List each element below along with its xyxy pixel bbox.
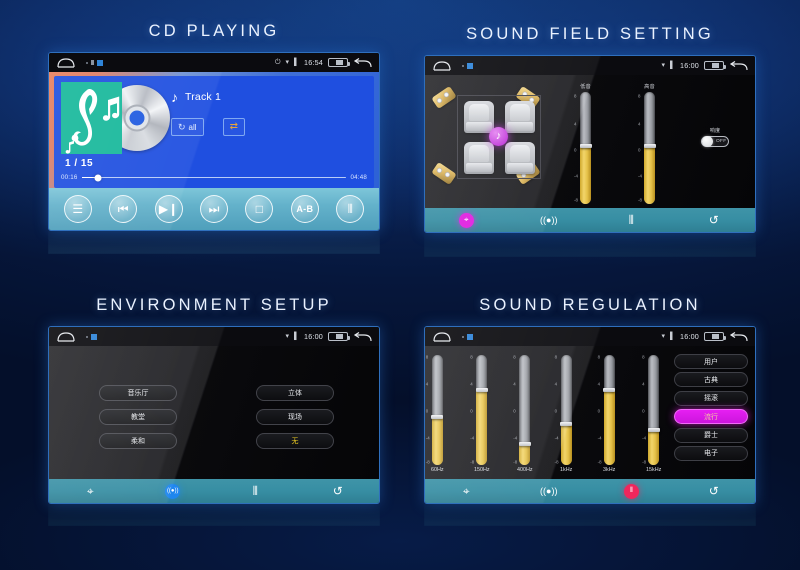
eq-band-400hz-track[interactable]: 8 4 0 -4 -8	[519, 355, 530, 465]
play-pause-icon: ▶❙	[159, 203, 178, 215]
progress-slider[interactable]	[82, 177, 345, 179]
toggle-knob	[702, 136, 713, 147]
cd-body: ♪ Track 1 ↻ all ⇄	[49, 72, 379, 188]
balance-icon: ⌖	[87, 485, 94, 497]
wifi-icon: ▾	[286, 333, 290, 340]
toggle-state: OFF	[716, 139, 727, 144]
eq-preset-classical[interactable]: 古典	[674, 372, 748, 387]
home-icon[interactable]	[56, 331, 76, 342]
track-index: 1 / 15	[65, 158, 367, 169]
eq-band-1khz-track[interactable]: 8 4 0 -4 -8	[561, 355, 572, 465]
signal-icon: ▌	[294, 59, 299, 66]
bottom-nav-environment: ⌖ ((●)) ⦀ ↺	[49, 479, 379, 503]
time-elapsed: 00:16	[61, 174, 77, 181]
eq-band-60hz-fill	[432, 417, 443, 465]
home-icon[interactable]	[432, 331, 452, 342]
speaker-rear-left-icon	[431, 162, 457, 185]
nav-soundfield[interactable]: ((●))	[508, 208, 591, 232]
statusbar-clock: 16:00	[680, 332, 699, 341]
soundfield-icon: ((●))	[165, 484, 180, 499]
eq-band-15khz-fill	[648, 430, 659, 465]
battery-icon	[704, 332, 724, 341]
previous-button[interactable]: ⏮	[109, 195, 137, 223]
treble-slider-fill	[644, 146, 655, 204]
equalizer-icon: ⦀	[624, 484, 639, 499]
environment-options: 音乐厅 教堂 柔和 立体 现场 无	[49, 346, 379, 479]
eq-preset-pop[interactable]: 流行	[674, 409, 748, 424]
playlist-button[interactable]: ☰	[64, 195, 92, 223]
balance-icon: ⌖	[463, 485, 470, 497]
loudness-toggle-group: 响度 OFF	[701, 127, 729, 147]
statusbar-sound-regulation: ▾ ▌ 16:00	[425, 327, 755, 346]
device-sound-field: ▾ ▌ 16:00	[424, 55, 756, 233]
shuffle-icon: ⇄	[230, 122, 238, 132]
repeat-icon: ↻	[178, 123, 186, 132]
panel-sound-regulation: SOUND REGULATION ▾ ▌ 16:00	[424, 296, 756, 504]
bass-slider-track[interactable]: 8 4 0 -4 -8	[580, 92, 591, 204]
panel-title-cd: CD PLAYING	[48, 22, 380, 41]
track-info: ♪ Track 1 ↻ all ⇄	[171, 82, 245, 154]
nav-equalizer[interactable]: ⦀	[214, 479, 297, 503]
eq-band-150hz-knob[interactable]	[476, 388, 488, 392]
statusbar-cd: ⏻ ▾ ▌ 16:54	[49, 53, 379, 72]
screen-cd: ♪ Track 1 ↻ all ⇄	[49, 72, 379, 230]
eq-band-150hz-fill	[476, 390, 487, 465]
eq-band-15khz-track[interactable]: 8 4 0 -4 -8	[648, 355, 659, 465]
eq-band-1khz-label: 1kHz	[560, 467, 572, 473]
eq-band-400hz-fill	[519, 444, 530, 465]
home-icon[interactable]	[56, 57, 76, 68]
seat-rear-left	[464, 142, 494, 174]
statusbar-environment: ▾ ▌ 16:00	[49, 327, 379, 346]
bass-slider-knob[interactable]	[580, 144, 592, 148]
eq-band-400hz-knob[interactable]	[519, 442, 531, 446]
stop-button[interactable]: □	[245, 195, 273, 223]
statusbar-right-environment: ▾ ▌ 16:00	[286, 331, 372, 343]
next-icon: ⏭	[209, 203, 220, 215]
env-option-concert-hall[interactable]: 音乐厅	[99, 385, 177, 401]
eq-band-150hz-track[interactable]: 8 4 0 -4 -8	[476, 355, 487, 465]
eq-band-150hz-label: 150Hz	[474, 467, 490, 473]
eq-preset-electronic[interactable]: 电子	[674, 446, 748, 461]
equalizer-icon: ⦀	[253, 485, 258, 497]
eq-band-60hz-knob[interactable]	[431, 415, 443, 419]
statusbar-right-sound-regulation: ▾ ▌ 16:00	[662, 331, 748, 343]
wifi-icon: ▾	[662, 62, 666, 69]
eq-band-3khz-fill	[604, 390, 615, 465]
signal-icon: ▌	[294, 333, 299, 340]
eq-band-60hz-track[interactable]: 8 4 0 -4 -8	[432, 355, 443, 465]
eq-preset-user[interactable]: 用户	[674, 354, 748, 369]
battery-icon	[328, 332, 348, 341]
statusbar-indicators	[86, 60, 103, 66]
soundfield-icon: ((●))	[540, 216, 557, 225]
treble-label: 高音	[644, 83, 655, 90]
statusbar-clock: 16:00	[304, 332, 323, 341]
bass-slider[interactable]: 低音 8 4 0 -4 -8	[580, 83, 591, 204]
time-total: 04:48	[351, 174, 367, 181]
statusbar-indicators	[462, 63, 473, 69]
nav-soundfield[interactable]: ((●))	[132, 479, 215, 503]
nav-equalizer[interactable]: ⦀	[590, 479, 673, 503]
treble-slider[interactable]: 高音 8 4 0 -4 -8	[644, 83, 655, 204]
panel-cd-playing: CD PLAYING ⏻ ▾ ▌ 16:54	[48, 22, 380, 231]
usb-icon: ⏻	[275, 59, 281, 66]
ab-label: A-B	[296, 205, 313, 214]
home-icon[interactable]	[432, 60, 452, 71]
eq-band-15khz-knob[interactable]	[648, 428, 660, 432]
panel-title-environment: ENVIRONMENT SETUP	[48, 296, 380, 315]
nav-reset[interactable]: ↺	[297, 479, 380, 503]
eq-band-15khz-label: 15kHz	[646, 467, 661, 473]
back-icon[interactable]	[729, 60, 748, 72]
next-button[interactable]: ⏭	[200, 195, 228, 223]
cd-transport-controls: ☰ ⏮ ▶❙ ⏭ □ A-B ⦀	[49, 188, 379, 230]
speaker-front-left-icon	[431, 86, 457, 109]
eq-preset-list: 用户 古典 摇滚 流行 爵士 电子	[674, 354, 748, 461]
soundfield-icon: ((●))	[540, 487, 557, 496]
playlist-icon: ☰	[72, 203, 83, 215]
loudness-toggle[interactable]: OFF	[701, 136, 729, 147]
bass-label: 低音	[580, 83, 591, 90]
panel-title-sound-regulation: SOUND REGULATION	[424, 296, 756, 315]
device-environment: ▾ ▌ 16:00 音乐厅 教堂 柔和 立体 现场 无	[48, 326, 380, 504]
eq-preset-jazz[interactable]: 爵士	[674, 428, 748, 443]
statusbar-right-cd: ⏻ ▾ ▌ 16:54	[275, 57, 372, 69]
seat-front-left	[464, 101, 494, 133]
wifi-icon: ▾	[662, 333, 666, 340]
play-pause-button[interactable]: ▶❙	[155, 195, 183, 223]
bottom-nav-sound-field: ⌖ ((●)) ⦀ ↺	[425, 208, 755, 232]
seat-front-right	[505, 101, 535, 133]
nav-balance[interactable]: ⌖	[49, 479, 132, 503]
eq-band-3khz[interactable]: 8 4 0 -4 -8 3kHz	[603, 355, 615, 473]
back-icon[interactable]	[353, 57, 372, 69]
shuffle-button[interactable]: ⇄	[223, 118, 245, 136]
env-option-live[interactable]: 现场	[256, 409, 334, 425]
env-option-church[interactable]: 教堂	[99, 409, 177, 425]
battery-icon	[328, 58, 348, 67]
eq-band-1khz-fill	[561, 424, 572, 465]
track-title-row: ♪ Track 1	[171, 90, 245, 104]
track-title: Track 1	[185, 91, 221, 103]
statusbar-sound-field: ▾ ▌ 16:00	[425, 56, 755, 75]
env-option-stereo[interactable]: 立体	[256, 385, 334, 401]
eq-band-3khz-track[interactable]: 8 4 0 -4 -8	[604, 355, 615, 465]
stop-icon: □	[256, 203, 263, 215]
equalizer-button[interactable]: ⦀	[336, 195, 364, 223]
nav-reset[interactable]: ↺	[673, 208, 756, 232]
eq-band-150hz[interactable]: 8 4 0 -4 -8 150Hz	[474, 355, 490, 473]
repeat-all-button[interactable]: ↻ all	[171, 118, 204, 136]
equalizer-icon: ⦀	[348, 203, 353, 215]
repeat-label: all	[189, 123, 197, 132]
bass-slider-fill	[580, 146, 591, 204]
treble-slider-track[interactable]: 8 4 0 -4 -8	[644, 92, 655, 204]
screen-sound-regulation: 8 4 0 -4 -8 60Hz 8	[425, 346, 755, 479]
back-icon[interactable]	[729, 331, 748, 343]
ab-repeat-button[interactable]: A-B	[291, 195, 319, 223]
eq-band-60hz-label: 60Hz	[431, 467, 444, 473]
bottom-nav-sound-regulation: ⌖ ((●)) ⦀ ↺	[425, 479, 755, 503]
equalizer-icon: ⦀	[629, 214, 634, 226]
album-art-area	[61, 82, 159, 154]
signal-icon: ▌	[670, 62, 675, 69]
eq-band-1khz[interactable]: 8 4 0 -4 -8 1kHz	[560, 355, 572, 473]
panel-environment: ENVIRONMENT SETUP ▾ ▌ 16:00	[48, 296, 380, 504]
nav-balance[interactable]: ⌖	[425, 208, 508, 232]
statusbar-right-sound-field: ▾ ▌ 16:00	[662, 60, 748, 72]
nav-soundfield[interactable]: ((●))	[508, 479, 591, 503]
env-option-none[interactable]: 无	[256, 433, 334, 449]
eq-band-3khz-label: 3kHz	[603, 467, 615, 473]
statusbar-indicators	[462, 334, 473, 340]
statusbar-clock: 16:00	[680, 61, 699, 70]
statusbar-indicators	[86, 334, 97, 340]
reset-icon: ↺	[333, 485, 343, 497]
seat-rear-right	[505, 142, 535, 174]
back-icon[interactable]	[353, 331, 372, 343]
loudness-label: 响度	[710, 127, 720, 134]
nav-balance[interactable]: ⌖	[425, 479, 508, 503]
playback-mode-row: ↻ all ⇄	[171, 118, 245, 136]
reset-icon: ↺	[709, 485, 719, 497]
balance-icon: ⌖	[459, 213, 474, 228]
screen-sound-field: ♪ 低音 8 4 0 -4 -8	[425, 75, 755, 208]
battery-icon	[704, 61, 724, 70]
previous-icon: ⏮	[118, 203, 129, 215]
progress-row: 00:16 04:48	[61, 174, 367, 184]
eq-band-1khz-knob[interactable]	[560, 422, 572, 426]
nav-equalizer[interactable]: ⦀	[590, 208, 673, 232]
signal-icon: ▌	[670, 333, 675, 340]
eq-band-3khz-knob[interactable]	[603, 388, 615, 392]
device-cd: ⏻ ▾ ▌ 16:54	[48, 52, 380, 231]
panel-grid: CD PLAYING ⏻ ▾ ▌ 16:54	[0, 0, 800, 570]
statusbar-clock: 16:54	[304, 58, 323, 67]
panel-sound-field: SOUND FIELD SETTING ▾ ▌ 16:00	[424, 25, 756, 233]
env-option-soft[interactable]: 柔和	[99, 433, 177, 449]
progress-knob[interactable]	[95, 174, 102, 181]
eq-band-400hz-label: 400Hz	[517, 467, 533, 473]
reset-icon: ↺	[709, 214, 719, 226]
eq-band-15khz[interactable]: 8 4 0 -4 -8 15kHz	[646, 355, 661, 473]
wifi-icon: ▾	[286, 59, 290, 66]
sound-position-marker[interactable]: ♪	[489, 127, 508, 146]
device-sound-regulation: ▾ ▌ 16:00 8 4 0	[424, 326, 756, 504]
screen-environment: 音乐厅 教堂 柔和 立体 现场 无	[49, 346, 379, 479]
music-note-icon: ♪	[171, 90, 178, 104]
eq-band-60hz[interactable]: 8 4 0 -4 -8 60Hz	[431, 355, 444, 473]
album-cover-art	[61, 82, 122, 154]
eq-band-400hz[interactable]: 8 4 0 -4 -8 400Hz	[517, 355, 533, 473]
panel-title-sound-field: SOUND FIELD SETTING	[424, 25, 756, 44]
treble-slider-knob[interactable]	[644, 144, 656, 148]
cd-now-playing: ♪ Track 1 ↻ all ⇄	[54, 76, 374, 188]
eq-preset-rock[interactable]: 摇滚	[674, 391, 748, 406]
nav-reset[interactable]: ↺	[673, 479, 756, 503]
